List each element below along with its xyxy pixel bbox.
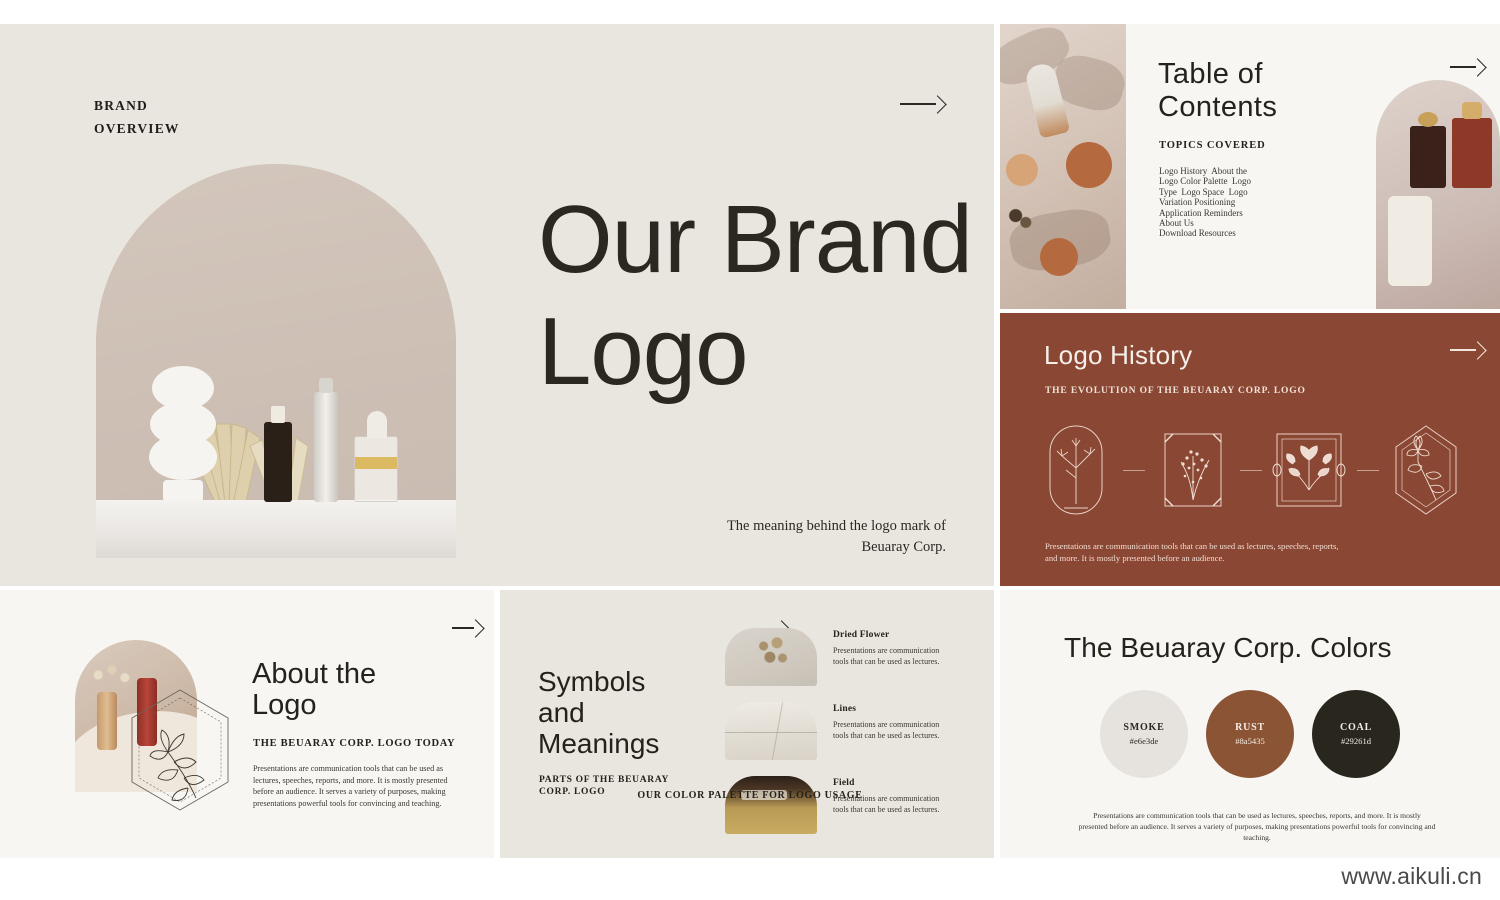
list-item[interactable]: Download Resources [1159,228,1309,238]
cosmetics-flatlay-photo [1000,24,1126,309]
toc-kicker: TOPICS COVERED [1159,140,1266,151]
list-item[interactable]: About Us [1159,218,1309,228]
symbols-title-line-2: and [538,697,659,728]
about-logo-title: About the Logo [252,659,376,721]
silver-pump-bottle [314,392,338,502]
connector-dash [1123,470,1145,471]
perfume-bottle [354,436,398,502]
symbols-title-line-3: Meanings [538,728,659,759]
hero-arch-photo [96,164,456,558]
hexagon-botanical-mark [1386,420,1466,520]
toc-title-line-1: Table of [1158,58,1277,91]
colors-title: The Beuaray Corp. Colors [1064,632,1392,664]
ceramic-vase [148,366,218,502]
arrow-right-icon[interactable] [1450,60,1484,74]
connector-dash [1357,470,1379,471]
powder-compact [1040,238,1078,276]
list-item: Lines Presentations are communication to… [725,702,975,760]
arrow-right-icon[interactable] [452,621,482,635]
arrow-right-icon[interactable] [900,97,944,111]
swatch-hex: #8a5435 [1235,736,1265,746]
cream-perfume-bottle [1388,196,1432,286]
swatch-name: RUST [1235,722,1265,733]
dried-buds [89,662,135,688]
dark-perfume-bottle [1410,126,1446,188]
color-swatch-coal[interactable]: COAL #29261d [1312,690,1400,778]
wood-lines-photo [725,702,817,760]
eyebrow-line-1: BRAND [94,94,180,117]
toc-title: Table of Contents [1158,58,1277,124]
list-item[interactable]: Application Reminders [1159,208,1309,218]
list-item[interactable]: Logo History About the [1159,166,1309,176]
color-swatch-rust[interactable]: RUST #8a5435 [1206,690,1294,778]
tan-spool [97,692,117,750]
list-item: Field Presentations are communication to… [725,776,975,834]
list-item[interactable]: Logo Color Palette Logo [1159,176,1309,186]
cut-corner-botanical-mark [1153,420,1233,520]
list-item: Dried Flower Presentations are communica… [725,628,975,686]
symbols-title-line-1: Symbols [538,666,659,697]
perfume-arch-photo [1376,80,1500,309]
about-title-line-2: Logo [252,690,376,721]
list-item[interactable]: Type Logo Space Logo [1159,187,1309,197]
serum-bottle [264,422,292,502]
swatch-name: SMOKE [1123,722,1164,733]
presentation-mockup-canvas: BRAND OVERVIEW Our Brand Logo The meanin… [0,0,1500,900]
about-logo-kicker: THE BEUARAY CORP. LOGO TODAY [253,738,455,749]
swatch-name: COAL [1340,722,1372,733]
logo-history-kicker: THE EVOLUTION OF THE BEUARAY CORP. LOGO [1045,386,1306,396]
list-item[interactable]: Variation Positioning [1159,197,1309,207]
red-perfume-bottle [1452,118,1492,188]
oval-botanical-mark [1036,420,1116,520]
list-item-body: Presentations are communication tools th… [833,719,941,741]
toc-topics-list: Logo History About the Logo Color Palett… [1159,166,1309,239]
connector-dash [1240,470,1262,471]
symbols-title: Symbols and Meanings [538,666,659,759]
swatch-hex: #29261d [1341,736,1371,746]
colors-kicker: OUR COLOR PALETTE FOR LOGO USAGE [0,790,1500,801]
dried-flower-photo [725,628,817,686]
list-item-heading: Dried Flower [833,630,941,640]
color-swatch-smoke[interactable]: SMOKE #e6e3de [1100,690,1188,778]
list-item-body: Presentations are communication tools th… [833,645,941,667]
hero-subtitle: The meaning behind the logo mark of Beua… [700,516,946,558]
brand-overview-eyebrow: BRAND OVERVIEW [94,94,180,140]
arrow-right-icon[interactable] [1450,343,1484,357]
square-frame-botanical-mark [1269,420,1349,520]
eyebrow-line-2: OVERVIEW [94,117,180,140]
list-item-heading: Field [833,778,941,788]
logo-history-title: Logo History [1044,340,1192,371]
about-logo-body: Presentations are communication tools th… [253,763,453,809]
colors-body: Presentations are communication tools th… [1078,810,1436,843]
color-swatch-row: SMOKE #e6e3de RUST #8a5435 COAL #29261d [1100,690,1400,778]
gold-jar [1006,154,1038,186]
about-title-line-1: About the [252,659,376,690]
slide-brand-overview: BRAND OVERVIEW Our Brand Logo The meanin… [0,24,994,586]
wheat-field-photo [725,776,817,834]
logo-history-body: Presentations are communication tools th… [1045,540,1345,564]
toc-title-line-2: Contents [1158,91,1277,124]
watermark: www.aikuli.cn [1341,863,1482,890]
dried-flower [1002,202,1036,236]
bronzer-compact [1066,142,1112,188]
symbols-list: Dried Flower Presentations are communica… [725,628,975,850]
marble-table [96,500,456,558]
list-item-heading: Lines [833,704,941,714]
logo-evolution-row [1036,418,1466,522]
swatch-hex: #e6e3de [1130,736,1159,746]
